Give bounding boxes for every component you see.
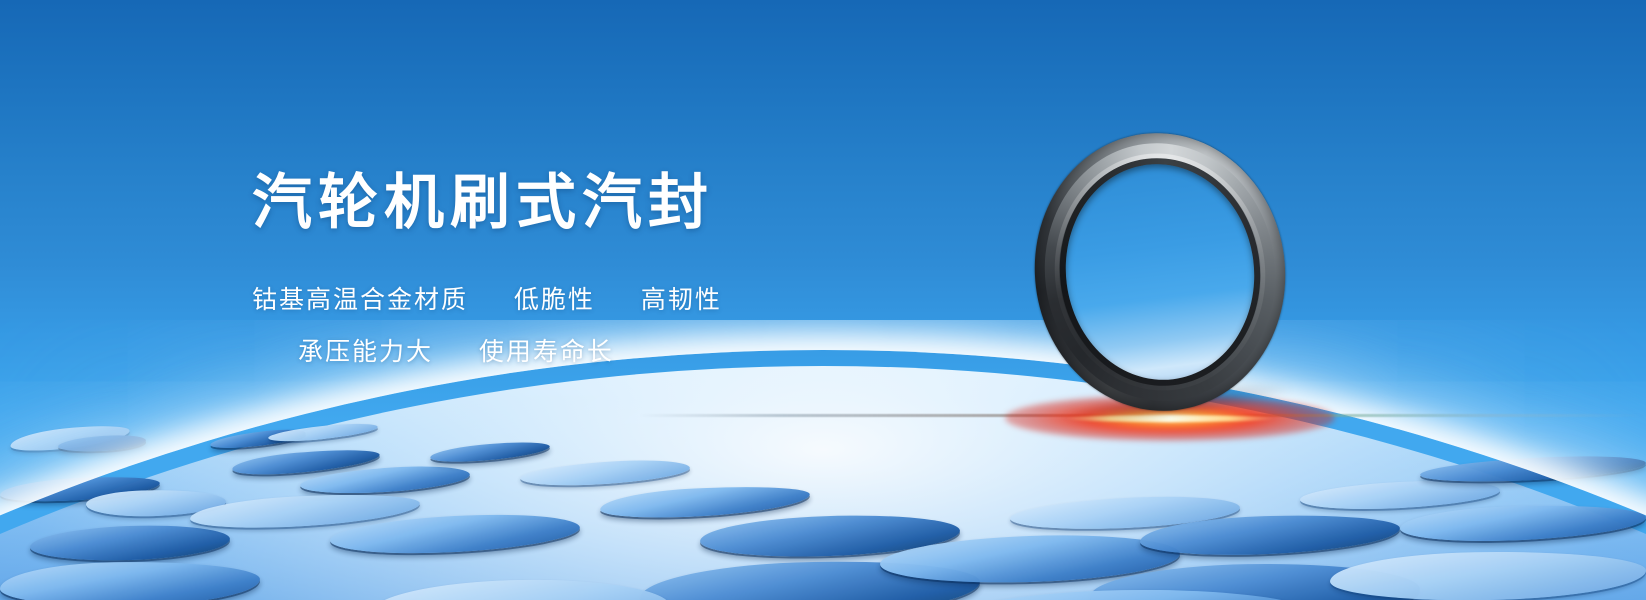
continent-shape bbox=[599, 483, 810, 522]
continent-shape bbox=[1399, 502, 1646, 545]
subline-1-part-2: 低脆性 bbox=[514, 285, 595, 314]
globe-sphere bbox=[0, 366, 1646, 600]
subline-1-part-1: 钴基高温合金材质 bbox=[252, 285, 468, 314]
subline-2-part-1: 承压能力大 bbox=[298, 337, 433, 366]
continent-shape bbox=[29, 523, 230, 564]
continent-shape bbox=[1299, 477, 1500, 513]
subline-2-part-2: 使用寿命长 bbox=[479, 337, 614, 366]
continent-shape bbox=[519, 456, 690, 490]
metal-seal-ring bbox=[1019, 119, 1301, 425]
continent-shape bbox=[1420, 452, 1646, 486]
subline-1-part-3: 高韧性 bbox=[641, 285, 722, 314]
continent-shape bbox=[268, 420, 379, 444]
continent-shape bbox=[1330, 549, 1646, 600]
banner-subline-1: 钴基高温合金材质 低脆性 高韧性 bbox=[252, 274, 892, 326]
continent-shape bbox=[430, 439, 551, 465]
hero-banner: 汽轮机刷式汽封 钴基高温合金材质 低脆性 高韧性 承压能力大 使用寿命长 bbox=[0, 0, 1646, 600]
banner-subline-2: 承压能力大 使用寿命长 bbox=[298, 326, 892, 378]
continent-shape bbox=[0, 560, 260, 600]
banner-copy: 汽轮机刷式汽封 钴基高温合金材质 低脆性 高韧性 承压能力大 使用寿命长 bbox=[252, 170, 892, 378]
continent-shape bbox=[369, 577, 670, 600]
banner-headline: 汽轮机刷式汽封 bbox=[252, 170, 892, 236]
